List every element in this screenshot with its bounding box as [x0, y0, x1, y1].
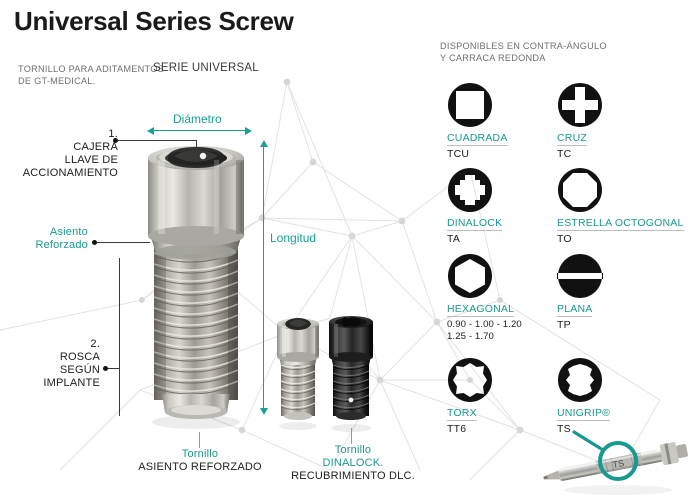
driver-name-cuadrada: CUADRADA — [447, 132, 508, 146]
length-arrow-down — [260, 408, 268, 415]
caption-main-screw: Tornillo ASIENTO REFORZADO — [110, 448, 290, 474]
square-drive-icon — [447, 82, 493, 128]
callout-rosca: 2. ROSCA SEGÚN IMPLANTE — [0, 338, 100, 390]
unigrip-driver-tool-illustration: TS — [536, 424, 700, 500]
dinalock-drive-icon — [447, 167, 493, 213]
callout-cajera-line-2: LLAVE DE — [0, 154, 118, 167]
caption-main-line-2: ASIENTO REFORZADO — [110, 461, 290, 474]
page-title: Universal Series Screw — [14, 6, 294, 37]
drivers-heading: DISPONIBLES EN CONTRA-ÁNGULO Y CARRACA R… — [440, 40, 607, 64]
driver-name-dinalock: DINALOCK — [447, 217, 502, 231]
small-steel-screw-illustration — [270, 310, 326, 430]
callout-rosca-line-3: IMPLANTE — [0, 377, 100, 390]
series-name: SERIE UNIVERSAL — [153, 62, 259, 74]
callout-cajera-line-1: CAJERA — [0, 141, 118, 154]
length-arrow-up — [260, 140, 268, 147]
drivers-heading-line-1: DISPONIBLES EN CONTRA-ÁNGULO — [440, 41, 607, 51]
caption-dinalock-screw: Tornillo DINALOCK. RECUBRIMIENTO DLC. — [278, 444, 428, 483]
callout-cajera: 1. CAJERA LLAVE DE ACCIONAMIENTO — [0, 128, 118, 180]
driver-item-cuadrada[interactable]: CUADRADA TCU — [447, 82, 508, 160]
callout-cajera-dot — [113, 138, 118, 143]
driver-name-plana: PLANA — [557, 303, 592, 317]
driver-code-torx: TT6 — [447, 423, 493, 435]
caption-main-leader — [199, 432, 200, 448]
driver-code-cuadrada: TCU — [447, 148, 508, 160]
driver-item-unigrip[interactable]: UNIGRIP® TS — [557, 357, 610, 435]
callout-rosca-line-1: ROSCA — [0, 351, 100, 364]
driver-name-torx: TORX — [447, 407, 477, 421]
driver-item-plana[interactable]: PLANA TP — [557, 253, 603, 331]
driver-name-cruz: CRUZ — [557, 132, 587, 146]
callout-asiento-leader — [95, 242, 150, 243]
torx-drive-icon — [447, 357, 493, 403]
driver-item-torx[interactable]: TORX TT6 — [447, 357, 493, 435]
callout-asiento: Asiento Reforzado — [0, 226, 88, 252]
length-label: Longitud — [270, 231, 316, 245]
driver-code-cruz: TC — [557, 148, 603, 160]
callout-cajera-leader-v — [196, 140, 197, 160]
driver-code-dinalock: TA — [447, 233, 502, 245]
callout-rosca-leader-h — [106, 368, 120, 369]
driver-sizes-hexagonal: 0.90 - 1.00 - 1.20 1.25 - 1.70 — [447, 319, 522, 342]
drivers-heading-line-2: Y CARRACA REDONDA — [440, 53, 546, 63]
driver-item-cruz[interactable]: CRUZ TC — [557, 82, 603, 160]
driver-name-estrella-octogonal: ESTRELLA OCTOGONAL — [557, 217, 684, 231]
hexagonal-drive-icon — [447, 253, 493, 299]
callout-asiento-line-1: Asiento — [0, 226, 88, 239]
callout-asiento-dot — [92, 240, 97, 245]
driver-code-estrella-octogonal: TO — [557, 233, 684, 245]
intro-line-1: TORNILLO PARA ADITAMENTOS — [18, 63, 164, 75]
callout-rosca-number: 2. — [0, 338, 100, 351]
flat-drive-icon — [557, 253, 603, 299]
intro-line-2: DE GT-MEDICAL. — [18, 75, 164, 87]
callout-asiento-line-2: Reforzado — [0, 239, 88, 252]
callout-cajera-line-3: ACCIONAMIENTO — [0, 167, 118, 180]
unigrip-drive-icon — [557, 357, 603, 403]
driver-name-hexagonal: HEXAGONAL — [447, 303, 514, 317]
caption-dinalock-line-2: DINALOCK. — [278, 457, 428, 470]
diameter-arrow-right — [245, 127, 252, 135]
caption-dinalock-leader — [351, 428, 352, 444]
octagonal-star-drive-icon — [557, 167, 603, 213]
driver-name-unigrip: UNIGRIP® — [557, 407, 610, 421]
callout-rosca-bracket — [119, 258, 120, 416]
callout-rosca-dot — [103, 366, 108, 371]
cross-drive-icon — [557, 82, 603, 128]
intro-caption: TORNILLO PARA ADITAMENTOS DE GT-MEDICAL.… — [18, 63, 164, 87]
caption-main-line-1: Tornillo — [110, 448, 290, 461]
driver-code-unigrip: TS — [557, 423, 610, 435]
dinalock-screw-illustration — [322, 306, 380, 432]
main-screw-illustration — [128, 130, 264, 430]
driver-item-hexagonal[interactable]: HEXAGONAL 0.90 - 1.00 - 1.20 1.25 - 1.70 — [447, 253, 522, 342]
driver-code-plana: TP — [557, 319, 603, 331]
callout-cajera-number: 1. — [0, 128, 118, 141]
driver-item-estrella-octogonal[interactable]: ESTRELLA OCTOGONAL TO — [557, 167, 684, 245]
screw-datasheet-page: Universal Series Screw TORNILLO PARA ADI… — [0, 0, 700, 500]
diameter-dimension-line — [152, 130, 246, 131]
diameter-arrow-left — [147, 127, 154, 135]
callout-cajera-leader-h — [116, 140, 196, 141]
length-dimension-line — [263, 147, 264, 410]
callout-rosca-line-2: SEGÚN — [0, 364, 100, 377]
diameter-label: Diámetro — [173, 112, 222, 126]
caption-dinalock-line-3: RECUBRIMIENTO DLC. — [278, 470, 428, 483]
caption-dinalock-line-1: Tornillo — [278, 444, 428, 457]
driver-item-dinalock[interactable]: DINALOCK TA — [447, 167, 502, 245]
